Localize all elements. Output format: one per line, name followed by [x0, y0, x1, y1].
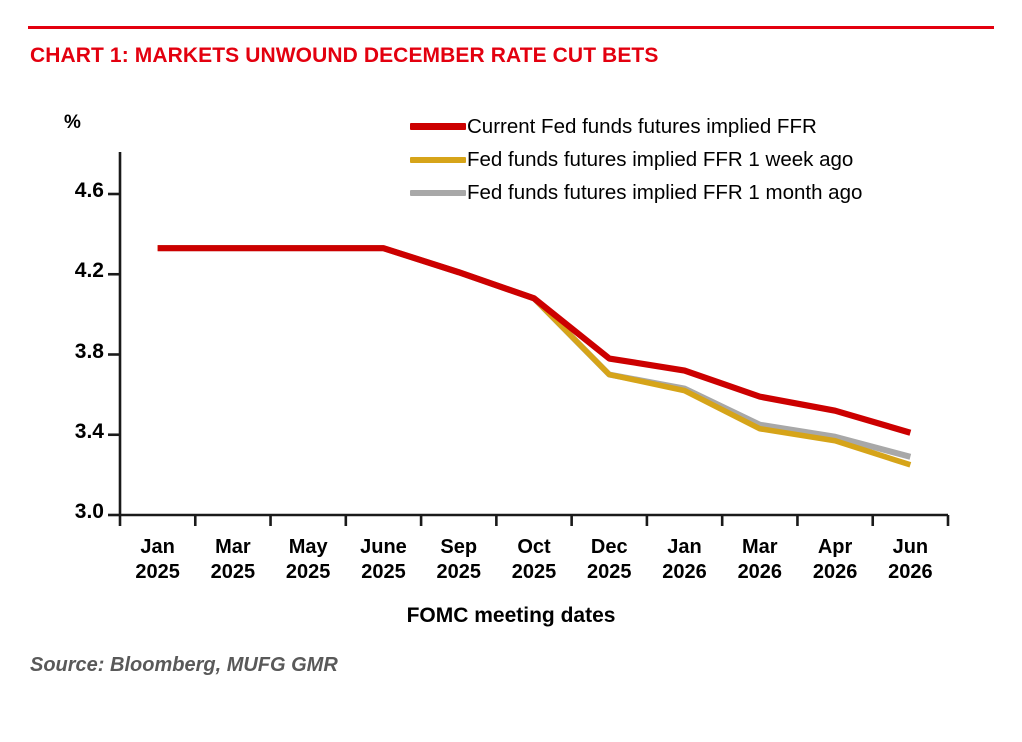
x-tick-label: Apr2026 [793, 535, 877, 585]
x-tick-year: 2026 [868, 560, 952, 585]
x-axis-ticks [120, 515, 948, 526]
x-tick-year: 2025 [116, 560, 200, 585]
data-series-group [158, 248, 911, 465]
x-tick-year: 2026 [643, 560, 727, 585]
y-tick-label: 3.8 [42, 340, 104, 364]
legend-label: Current Fed funds futures implied FFR [467, 115, 817, 139]
x-tick-label: Oct2025 [492, 535, 576, 585]
x-tick-year: 2025 [341, 560, 425, 585]
x-tick-label: May2025 [266, 535, 350, 585]
y-tick-label: 4.6 [42, 179, 104, 203]
legend-item[interactable]: Current Fed funds futures implied FFR [410, 110, 980, 143]
legend-color-swatch [410, 123, 466, 130]
x-tick-year: 2025 [266, 560, 350, 585]
x-tick-label: Mar2025 [191, 535, 275, 585]
x-tick-month: May [266, 535, 350, 560]
x-tick-year: 2025 [492, 560, 576, 585]
x-tick-month: Jan [116, 535, 200, 560]
chart-page: CHART 1: MARKETS UNWOUND DECEMBER RATE C… [0, 0, 1022, 742]
x-tick-label: Sep2025 [417, 535, 501, 585]
x-tick-month: Mar [718, 535, 802, 560]
series-line-month-ago [158, 248, 911, 457]
y-tick-label: 4.2 [42, 259, 104, 283]
legend-label: Fed funds futures implied FFR 1 week ago [467, 148, 853, 172]
x-tick-month: Jun [868, 535, 952, 560]
legend-color-swatch [410, 190, 466, 196]
x-tick-month: Mar [191, 535, 275, 560]
x-tick-label: Mar2026 [718, 535, 802, 585]
y-axis-ticks [108, 194, 120, 515]
series-line-week-ago [158, 248, 911, 465]
y-tick-label: 3.4 [42, 420, 104, 444]
x-tick-year: 2026 [718, 560, 802, 585]
x-tick-month: Jan [643, 535, 727, 560]
x-tick-year: 2025 [417, 560, 501, 585]
x-axis-title: FOMC meeting dates [0, 604, 1022, 628]
x-tick-month: June [341, 535, 425, 560]
x-tick-label: Jan2025 [116, 535, 200, 585]
x-tick-label: Jan2026 [643, 535, 727, 585]
legend-item[interactable]: Fed funds futures implied FFR 1 week ago [410, 143, 980, 176]
x-tick-label: Dec2025 [567, 535, 651, 585]
legend-color-swatch [410, 157, 466, 163]
x-tick-month: Apr [793, 535, 877, 560]
x-tick-year: 2026 [793, 560, 877, 585]
legend-item[interactable]: Fed funds futures implied FFR 1 month ag… [410, 176, 980, 209]
x-tick-month: Sep [417, 535, 501, 560]
chart-legend: Current Fed funds futures implied FFRFed… [410, 110, 980, 209]
x-tick-month: Dec [567, 535, 651, 560]
x-tick-year: 2025 [191, 560, 275, 585]
x-tick-label: Jun2026 [868, 535, 952, 585]
series-line-current [158, 248, 911, 433]
source-note: Source: Bloomberg, MUFG GMR [30, 654, 338, 677]
x-tick-year: 2025 [567, 560, 651, 585]
y-tick-label: 3.0 [42, 500, 104, 524]
x-tick-month: Oct [492, 535, 576, 560]
y-axis-unit-label: % [64, 112, 81, 134]
x-tick-label: June2025 [341, 535, 425, 585]
legend-label: Fed funds futures implied FFR 1 month ag… [467, 181, 862, 205]
